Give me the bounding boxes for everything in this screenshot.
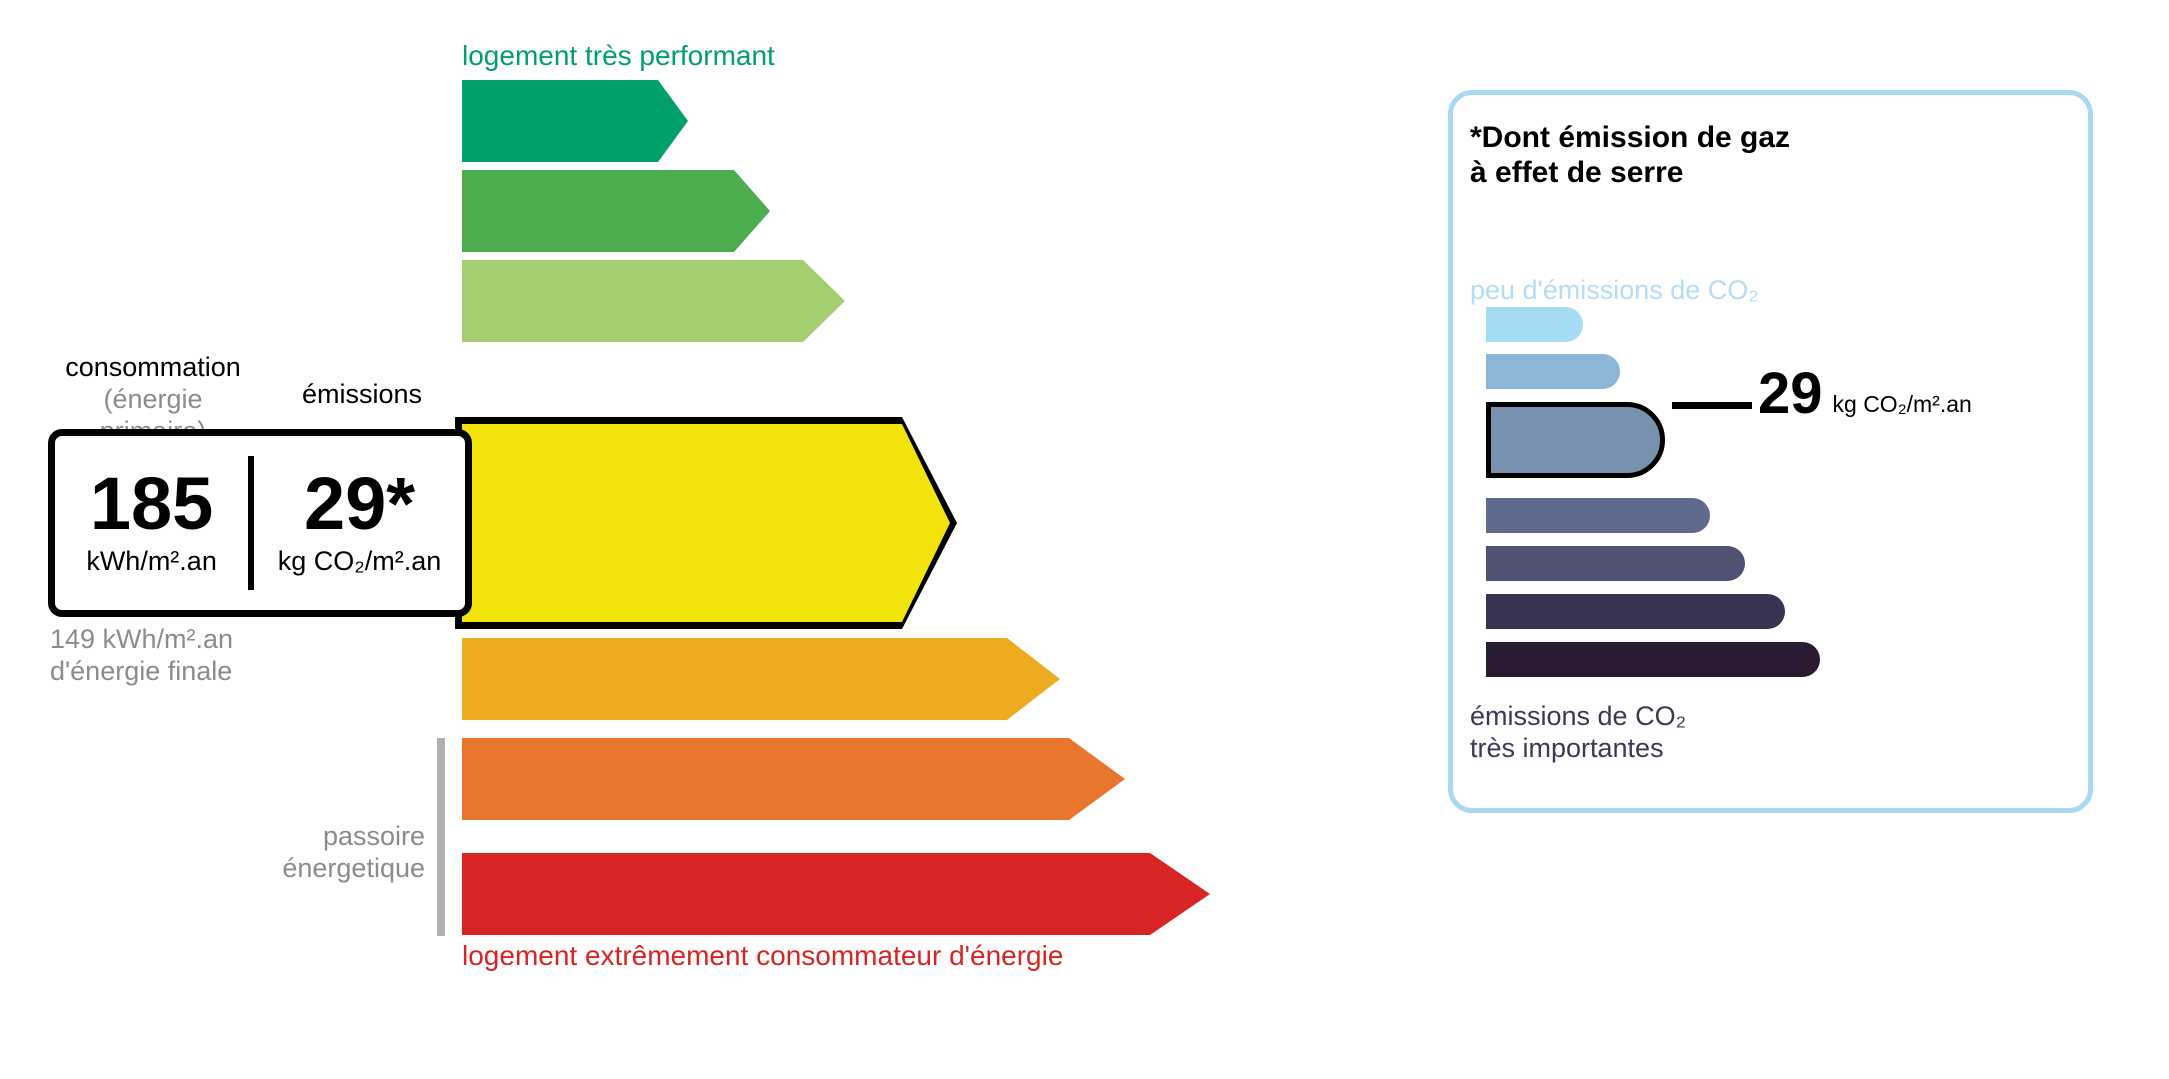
co2-bar-c-shape (1486, 402, 1665, 478)
primary-energy-unit: kWh/m².an (86, 546, 217, 577)
poor-performance-bracket (437, 738, 445, 936)
energy-scale-bottom-caption: logement extrêmement consommateur d'éner… (462, 940, 1063, 972)
energy-scale-top-caption: logement très performant (462, 40, 775, 72)
emission-value: 29* (304, 469, 415, 539)
energy-bar-g-shape (462, 853, 1210, 935)
primary-energy-value: 185 (90, 469, 213, 539)
co2-bar-g[interactable]: G (1486, 642, 1820, 677)
emission-value-group: 29* kg CO₂/m².an (254, 436, 465, 610)
co2-bottom-caption-line1: émissions de CO₂ (1470, 700, 1686, 732)
co2-bar-d-shape (1486, 498, 1710, 533)
final-energy-note: 149 kWh/m².an d'énergie finale (50, 623, 233, 688)
co2-panel-title: *Dont émission de gaz à effet de serre (1470, 120, 1790, 191)
co2-bar-e[interactable]: E (1486, 546, 1745, 581)
energy-bar-g[interactable]: G (462, 853, 1210, 935)
co2-bar-a[interactable]: A (1486, 307, 1583, 342)
co2-panel-title-line2: à effet de serre (1470, 155, 1790, 190)
co2-bar-c-selected[interactable]: C (1486, 402, 1665, 478)
poor-performance-label-line2: énergetique (150, 852, 425, 884)
energy-bar-d-shape (462, 424, 950, 622)
final-energy-line2: d'énergie finale (50, 655, 233, 687)
poor-performance-label-line1: passoire (150, 820, 425, 852)
final-energy-line1: 149 kWh/m².an (50, 623, 233, 655)
energy-bar-f[interactable]: F (462, 738, 1125, 820)
co2-value-unit: kg CO₂/m².an (1833, 391, 1972, 418)
co2-bar-b-shape (1486, 354, 1620, 389)
co2-bar-g-shape (1486, 642, 1820, 677)
co2-bar-b[interactable]: B (1486, 354, 1620, 389)
primary-energy-value-group: 185 kWh/m².an (55, 436, 248, 610)
poor-performance-label: passoire énergetique (150, 820, 425, 885)
co2-bar-d[interactable]: D (1486, 498, 1710, 533)
energy-bar-d-selected[interactable]: D (462, 424, 950, 622)
energy-bar-a[interactable]: A (462, 80, 688, 162)
energy-bar-a-shape (462, 80, 688, 162)
energy-bar-f-shape (462, 738, 1125, 820)
dpe-value-box: 185 kWh/m².an 29* kg CO₂/m².an (48, 429, 472, 617)
co2-bar-f[interactable]: F (1486, 594, 1785, 629)
co2-bar-e-shape (1486, 546, 1745, 581)
co2-bar-a-shape (1486, 307, 1583, 342)
energy-bar-b-shape (462, 170, 770, 252)
co2-value-number: 29 (1758, 365, 1823, 423)
consumption-header-line1: consommation (48, 352, 258, 384)
co2-bar-f-shape (1486, 594, 1785, 629)
co2-value-annotation: 29 kg CO₂/m².an (1758, 365, 1972, 423)
energy-bar-e[interactable]: E (462, 638, 1060, 720)
co2-top-caption: peu d'émissions de CO₂ (1470, 275, 1759, 306)
energy-bar-b[interactable]: B (462, 170, 770, 252)
energy-bar-e-shape (462, 638, 1060, 720)
co2-leader-line (1672, 402, 1752, 409)
emission-unit: kg CO₂/m².an (278, 546, 442, 577)
co2-bottom-caption-line2: très importantes (1470, 732, 1686, 764)
co2-panel-title-line1: *Dont émission de gaz (1470, 120, 1790, 155)
co2-bottom-caption: émissions de CO₂ très importantes (1470, 700, 1686, 765)
energy-bar-c-shape (462, 260, 845, 342)
energy-bar-c[interactable]: C (462, 260, 845, 342)
emission-header-label: émissions (262, 379, 462, 410)
energy-performance-scale: logement très performant A B C D E F G p… (0, 0, 1400, 1079)
